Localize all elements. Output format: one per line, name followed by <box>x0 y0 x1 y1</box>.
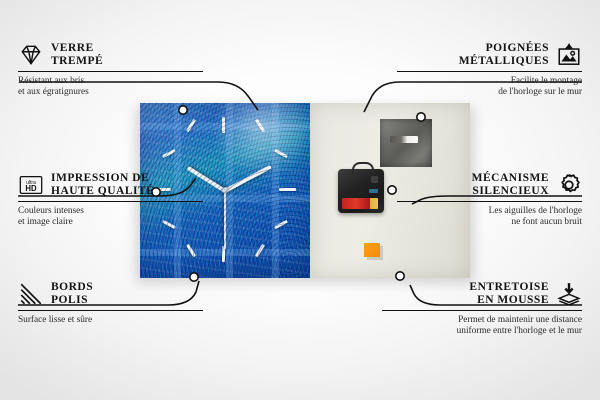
battery <box>342 198 378 209</box>
callout-header: MÉCANISME SILENCIEUX <box>397 172 582 198</box>
divider <box>382 310 582 311</box>
callout-verre-trempe[interactable]: VERRE TREMPÉ Résistant aux bris et aux é… <box>18 42 203 98</box>
face-grid-line <box>272 103 279 278</box>
callout-description: Surface lisse et sûre <box>18 315 203 326</box>
mechanism-loop <box>352 162 374 174</box>
callout-header: ENTRETOISE EN MOUSSE <box>382 281 582 307</box>
callout-bords-polis[interactable]: BORDS POLIS Surface lisse et sûre <box>18 281 203 326</box>
callout-description: Résistant aux bris et aux égratignures <box>18 76 203 98</box>
hour-marker <box>255 119 265 132</box>
hour-marker <box>274 220 288 229</box>
callout-header: ultra HD IMPRESSION DE HAUTE QUALITÉ <box>18 172 203 198</box>
foam-spacer-icon <box>556 281 582 307</box>
hand-hub <box>222 187 228 193</box>
metal-hanger <box>380 119 432 167</box>
hour-marker <box>279 188 296 191</box>
mechanism-label <box>369 189 378 193</box>
ultra-hd-icon: ultra HD <box>18 172 44 198</box>
face-grid-line <box>226 103 233 278</box>
foam-spacer <box>364 243 380 257</box>
callout-title: VERRE TREMPÉ <box>51 42 103 68</box>
minute-hand <box>224 165 272 193</box>
hour-marker <box>274 149 288 158</box>
gear-icon <box>556 172 582 198</box>
diamond-icon <box>18 42 44 68</box>
callout-description: Les aiguilles de l'horloge ne font aucun… <box>397 206 582 228</box>
hour-marker <box>222 246 225 262</box>
callout-poignees-metalliques[interactable]: POIGNÉES MÉTALLIQUES Facilite le montage… <box>397 42 582 98</box>
hour-marker <box>222 117 225 133</box>
callout-title: MÉCANISME SILENCIEUX <box>472 172 549 198</box>
callout-description: Couleurs intenses et image claire <box>18 206 203 228</box>
callout-title: ENTRETOISE EN MOUSSE <box>469 281 549 307</box>
divider <box>18 71 203 72</box>
second-hand <box>224 191 226 249</box>
callout-header: BORDS POLIS <box>18 281 203 307</box>
mechanism-button <box>371 176 378 183</box>
divider <box>18 201 203 202</box>
callout-title: BORDS POLIS <box>51 281 93 307</box>
infographic-canvas: VERRE TREMPÉ Résistant aux bris et aux é… <box>0 0 600 400</box>
svg-text:HD: HD <box>25 184 37 193</box>
divider <box>397 71 582 72</box>
callout-mecanisme-silencieux[interactable]: MÉCANISME SILENCIEUX Les aiguilles de l'… <box>397 172 582 228</box>
hour-marker <box>255 244 265 257</box>
divider <box>18 310 203 311</box>
callout-entretoise-mousse[interactable]: ENTRETOISE EN MOUSSE Permet de maintenir… <box>382 281 582 337</box>
callout-title: IMPRESSION DE HAUTE QUALITÉ <box>51 172 154 198</box>
divider <box>397 201 582 202</box>
callout-title: POIGNÉES MÉTALLIQUES <box>459 42 549 68</box>
polished-edge-icon <box>18 281 44 307</box>
callout-impression-hd[interactable]: ultra HD IMPRESSION DE HAUTE QUALITÉ Cou… <box>18 172 203 228</box>
callout-description: Permet de maintenir une distance uniform… <box>382 315 582 337</box>
hour-marker <box>186 244 196 257</box>
face-grid-line <box>140 249 310 256</box>
face-grid-line <box>140 123 310 130</box>
callout-header: POIGNÉES MÉTALLIQUES <box>397 42 582 68</box>
callout-description: Facilite le montage de l'horloge sur le … <box>397 76 582 98</box>
hour-marker <box>186 119 196 132</box>
callout-header: VERRE TREMPÉ <box>18 42 203 68</box>
picture-frame-icon <box>556 42 582 68</box>
hanger-slot <box>390 136 418 143</box>
hour-marker <box>162 149 176 158</box>
clock-mechanism <box>338 169 384 213</box>
